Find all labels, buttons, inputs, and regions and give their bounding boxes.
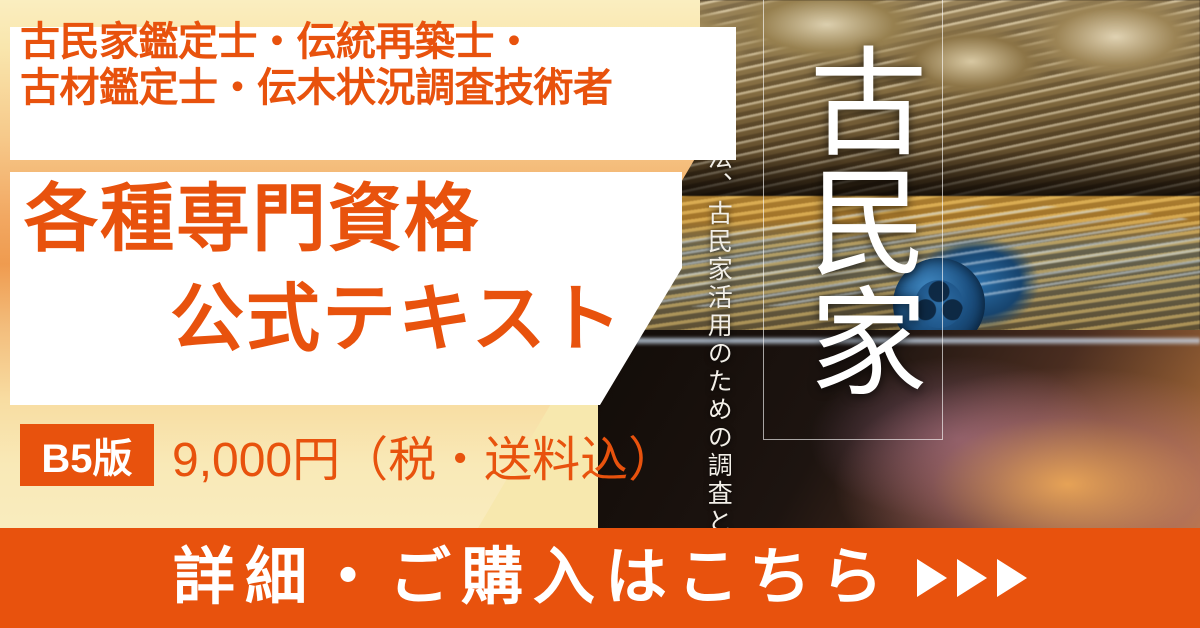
headline-line-2: 公式テキスト: [170, 282, 624, 356]
certifications-line-2: 古材鑑定士・伝木状況調査技術者: [20, 62, 726, 115]
cta-arrow-group: [917, 559, 1027, 597]
triangle-right-icon: [957, 559, 987, 597]
cta-bar[interactable]: 詳細・ご購入はこちら: [0, 528, 1200, 628]
price-text: 9,000円（税・送料込）: [172, 424, 676, 486]
format-badge: B5版: [20, 424, 154, 486]
triangle-right-icon: [997, 559, 1027, 597]
triangle-right-icon: [917, 559, 947, 597]
cover-title: 古民家: [776, 6, 926, 436]
cta-label: 詳細・ご購入はこちら: [173, 547, 893, 609]
promo-banner: 古民家 伝統構法、古民家活用のための調査と再生の 古民家鑑定士・伝統再築士・ 古…: [0, 0, 1200, 628]
certifications-line-1: 古民家鑑定士・伝統再築士・: [20, 16, 726, 69]
headline-line-1: 各種専門資格: [24, 182, 480, 256]
